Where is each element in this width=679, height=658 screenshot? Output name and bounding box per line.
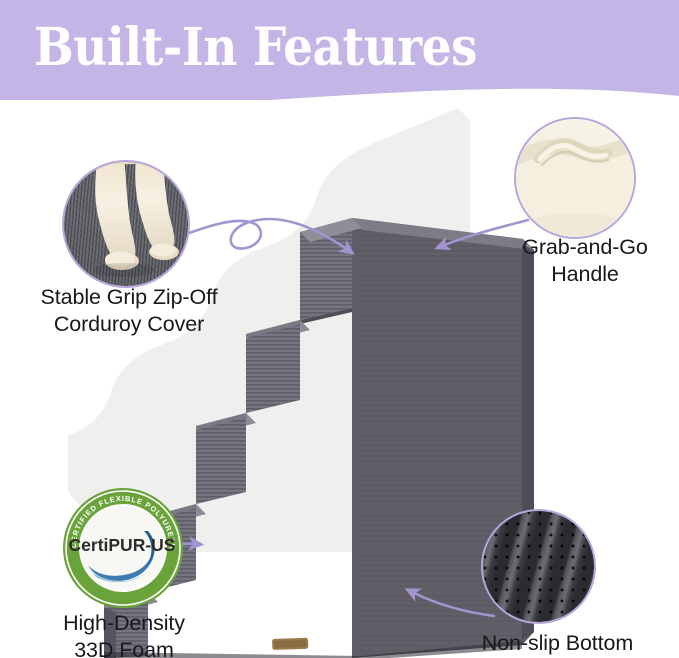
- label-non-slip-bottom: Non-slip Bottom: [448, 630, 667, 657]
- non-slip-texture: [483, 511, 594, 622]
- label-high-density-foam: High-Density 33D Foam: [28, 610, 220, 658]
- badge-trademark: ®: [170, 538, 175, 545]
- label-grab-and-go-handle: Grab-and-Go Handle: [494, 234, 676, 288]
- page-title: Built-In Features: [34, 17, 477, 79]
- callout-grab-and-go-handle[interactable]: [514, 117, 636, 239]
- dog-paws-image: [64, 162, 190, 288]
- callout-corduroy-cover[interactable]: [62, 160, 190, 288]
- carry-handle-image: [516, 119, 636, 239]
- badge-wordmark: CertiPUR-US: [69, 535, 176, 555]
- certipur-us-badge: CONTAINS CERTIFIED FLEXIBLE POLYURETHANE…: [62, 487, 184, 609]
- certipur-seal: CONTAINS CERTIFIED FLEXIBLE POLYURETHANE…: [62, 487, 184, 609]
- label-corduroy-cover: Stable Grip Zip-Off Corduroy Cover: [10, 284, 248, 338]
- infographic-page: Built-In Features: [0, 0, 679, 658]
- callout-non-slip-bottom[interactable]: [481, 509, 596, 624]
